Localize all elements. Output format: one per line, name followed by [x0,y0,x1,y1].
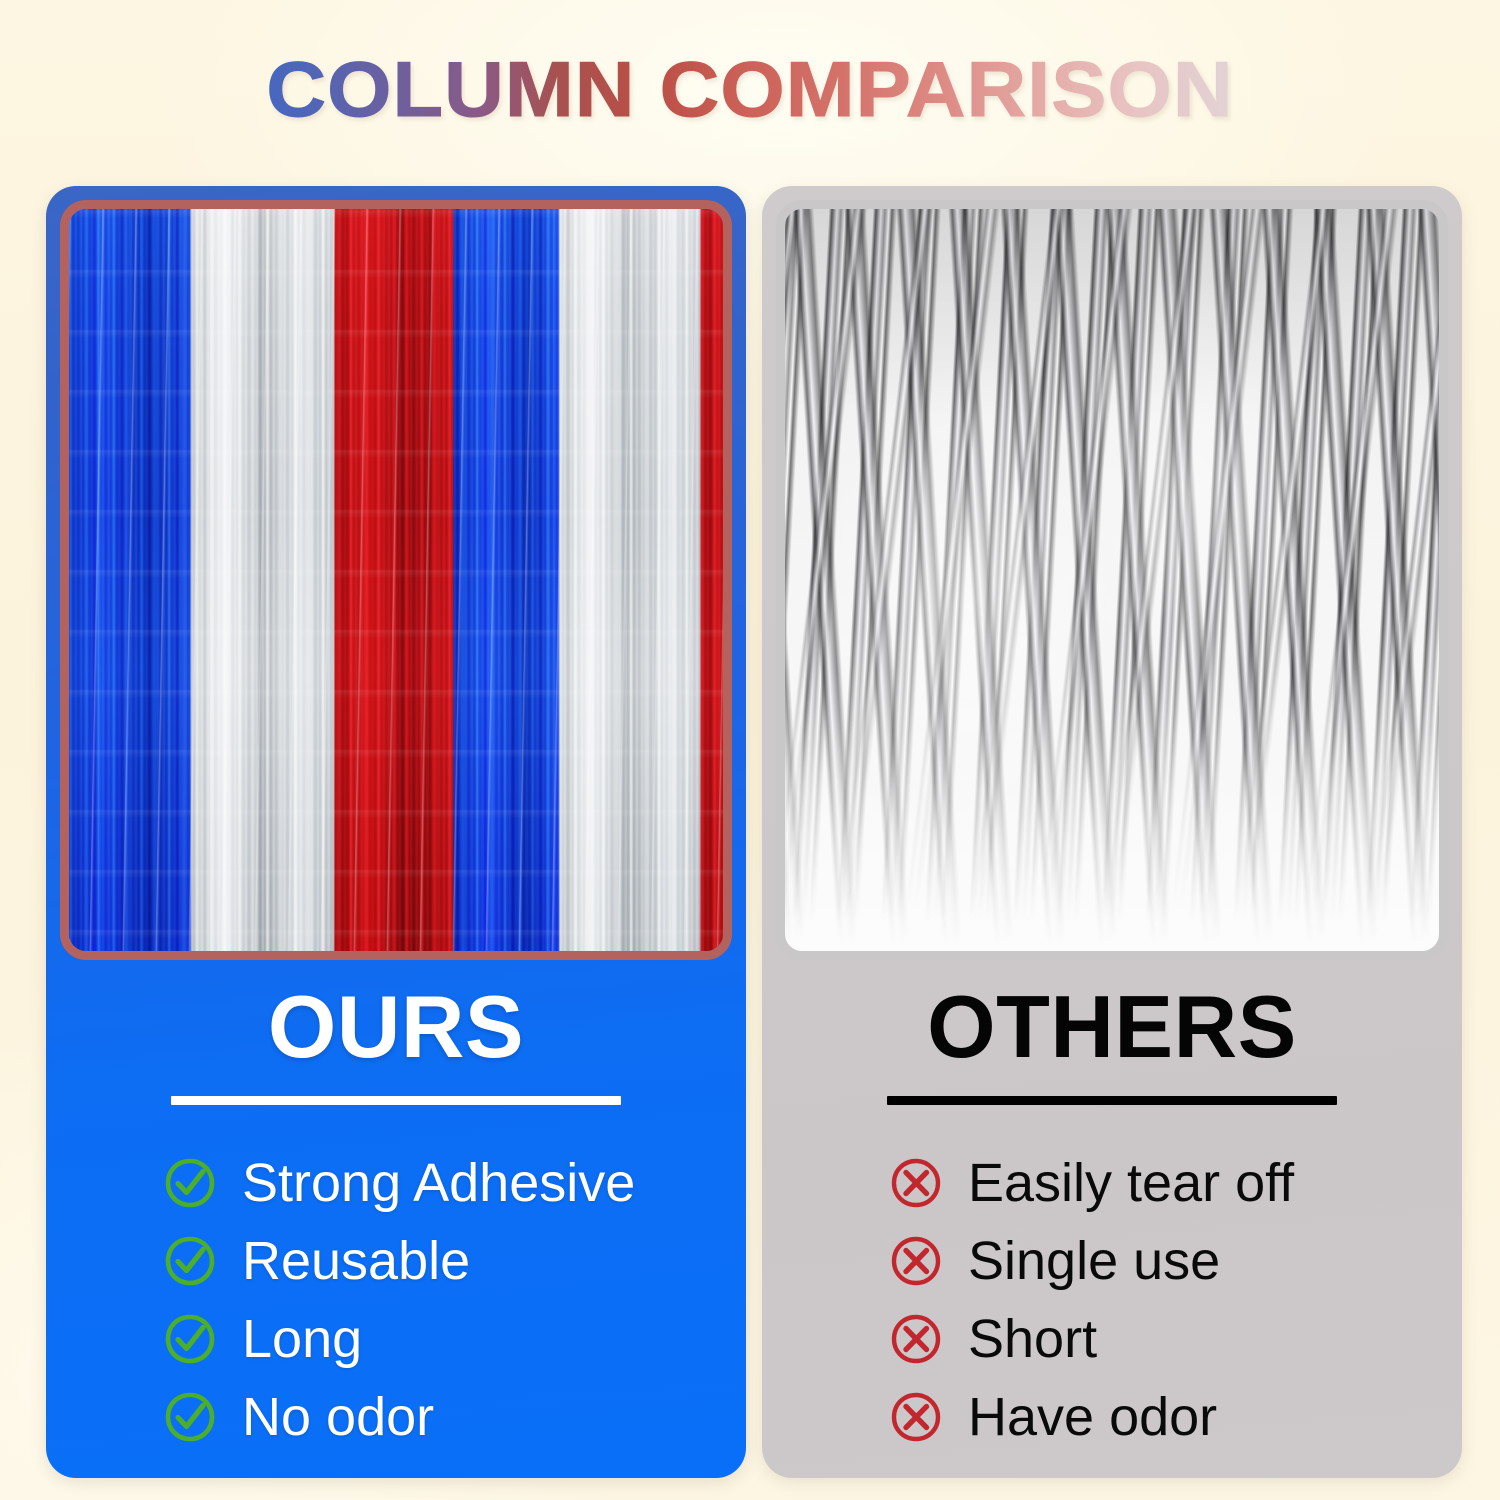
check-circle-icon [164,1235,216,1287]
heading-ours: OURS [46,976,746,1078]
list-item: No odor [46,1378,746,1456]
list-item: Easily tear off [762,1144,1462,1222]
panel-others: OTHERS Easily tear off [762,186,1462,1478]
product-photo-others [776,200,1448,960]
list-item: Have odor [762,1378,1462,1456]
tinsel-curtain-color-image [69,209,723,951]
product-photo-ours [60,200,732,960]
feature-label: Strong Adhesive [242,1156,635,1210]
cross-circle-icon [890,1157,942,1209]
feature-list-ours: Strong Adhesive Reusable [46,1144,746,1456]
list-item: Single use [762,1222,1462,1300]
tinsel-silver-image [785,209,1439,951]
feature-label: Single use [968,1234,1220,1288]
feature-list-others: Easily tear off Single use [762,1144,1462,1456]
comparison-infographic: COLUMN COMPARISON OURS Strong Adhesive [0,0,1500,1500]
heading-others: OTHERS [762,976,1462,1078]
list-item: Short [762,1300,1462,1378]
tinsel-highlight-speckle [69,209,723,951]
page-title: COLUMN COMPARISON [0,44,1500,135]
feature-label: Short [968,1312,1097,1366]
divider-others [887,1096,1337,1105]
feature-label: Long [242,1312,362,1366]
list-item: Strong Adhesive [46,1144,746,1222]
check-circle-icon [164,1313,216,1365]
list-item: Long [46,1300,746,1378]
feature-label: Easily tear off [968,1156,1294,1210]
cross-circle-icon [890,1391,942,1443]
feature-label: Have odor [968,1390,1217,1444]
feature-label: Reusable [242,1234,470,1288]
check-circle-icon [164,1391,216,1443]
feature-label: No odor [242,1390,434,1444]
cross-circle-icon [890,1235,942,1287]
list-item: Reusable [46,1222,746,1300]
tinsel-shading-overlay [785,209,1439,951]
cross-circle-icon [890,1313,942,1365]
divider-ours [171,1096,621,1105]
check-circle-icon [164,1157,216,1209]
panel-ours: OURS Strong Adhesive [46,186,746,1478]
